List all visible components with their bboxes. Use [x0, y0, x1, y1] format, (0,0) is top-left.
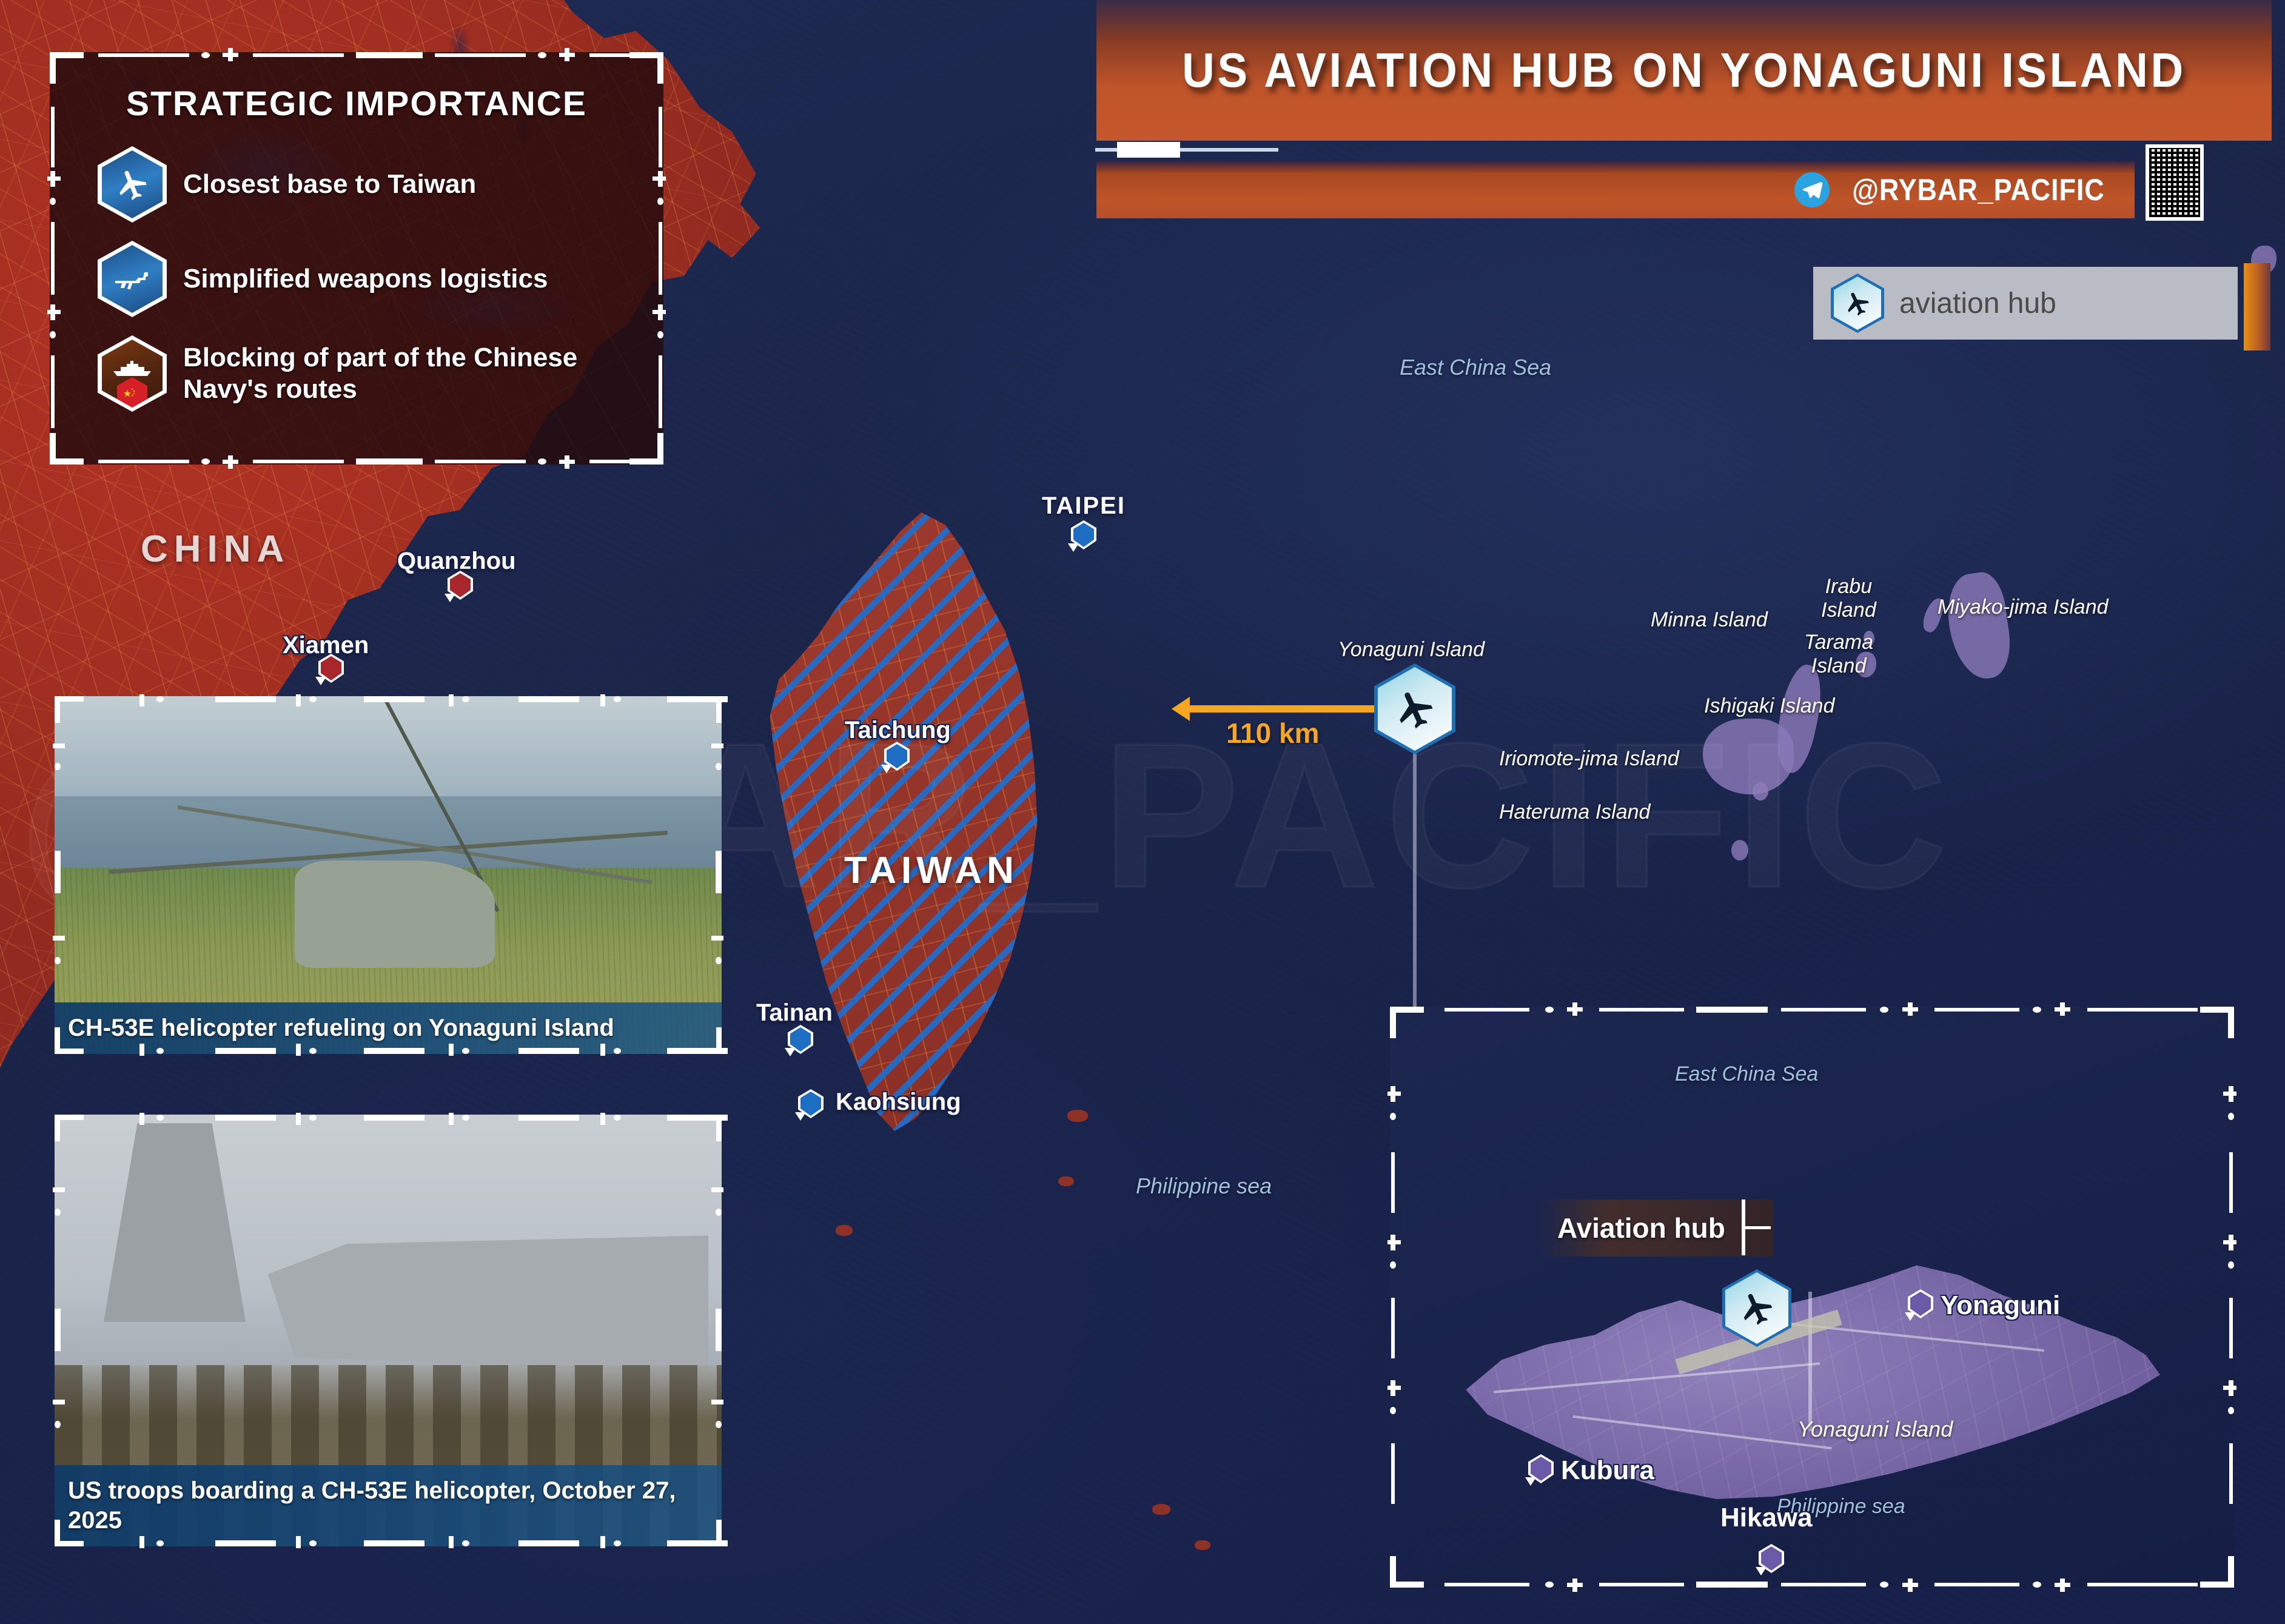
island-label-miyako: Miyako-jima Island: [1938, 596, 2109, 619]
country-label-china: CHINA: [141, 528, 290, 571]
city-label-tainan: Tainan: [756, 999, 833, 1027]
inset-island-label: Yonaguni Island: [1797, 1417, 1953, 1442]
page-title: US AVIATION HUB ON YONAGUNI ISLAND: [1125, 0, 2243, 141]
title-banner: US AVIATION HUB ON YONAGUNI ISLAND @RYBA…: [1083, 0, 2285, 226]
island-shape-hateruma: [1731, 840, 1748, 861]
island-label-irabu: IrabuIsland: [1821, 575, 1876, 622]
city-label-kaohsiung: Kaohsiung: [836, 1089, 961, 1116]
panel-item-closest-base: Closest base to Taiwan: [50, 150, 663, 218]
taiwan-islet: [836, 1225, 853, 1236]
telegram-bar: @RYBAR_PACIFIC: [1096, 161, 2135, 218]
panel-item-weapons-logistics: Simplified weapons logistics: [50, 245, 663, 313]
distance-arrow-left: [1172, 697, 1190, 721]
inset-sea-label-east-china-sea: East China Sea: [1675, 1062, 1818, 1086]
inset-connector-line: [1413, 752, 1417, 1007]
taiwan-islet: [1067, 1110, 1088, 1122]
panel-item-label: Simplified weapons logistics: [183, 263, 548, 295]
country-label-taiwan: TAIWAN: [844, 849, 1019, 892]
distance-line: [1189, 705, 1389, 713]
title-rule-marker: [1117, 142, 1180, 158]
island-label-iriomote: Iriomote-jima Island: [1499, 747, 1679, 771]
taiwan-islet: [1058, 1176, 1074, 1186]
telegram-row[interactable]: @RYBAR_PACIFIC: [1794, 161, 2130, 218]
callout-leader-horizontal: [1742, 1226, 1771, 1229]
city-label-xiamen: Xiamen: [283, 632, 369, 659]
legend: aviation hub: [1813, 267, 2238, 340]
telegram-handle[interactable]: @RYBAR_PACIFIC: [1852, 172, 2105, 207]
panel-item-naval-blocking: Blocking of part of the Chinese Navy's r…: [50, 340, 663, 408]
china-flag-icon: [117, 377, 147, 411]
qr-code-icon[interactable]: [2146, 144, 2204, 221]
taiwan-islet: [1195, 1540, 1210, 1550]
aviation-hub-marker[interactable]: [1378, 667, 1452, 751]
inset-city-label-hikawa: Hikawa: [1720, 1503, 1813, 1533]
island-label-hateruma: Hateruma Island: [1499, 800, 1650, 824]
inset-aviation-hub-marker[interactable]: [1725, 1272, 1788, 1344]
island-label-minna: Minna Island: [1651, 608, 1768, 632]
island-shape-small: [1753, 782, 1768, 800]
island-label-yonaguni: Yonaguni Island: [1338, 638, 1485, 662]
strategic-importance-panel: STRATEGIC IMPORTANCE Closest base to Tai…: [50, 52, 663, 465]
inset-callout: Aviation hub: [1542, 1200, 1773, 1257]
distance-label: 110 km: [1226, 717, 1319, 750]
panel-item-label: Closest base to Taiwan: [183, 169, 476, 200]
legend-item-label: aviation hub: [1899, 287, 2056, 320]
panel-title: STRATEGIC IMPORTANCE: [50, 52, 663, 124]
right-edge-tab: [2244, 263, 2270, 351]
island-label-tarama: TaramaIsland: [1804, 631, 1873, 678]
sea-label-east-china-sea: East China Sea: [1400, 355, 1551, 380]
inset-map-yonaguni: East China Sea Philippine sea Aviation h…: [1390, 1007, 2234, 1588]
panel-item-label: Blocking of part of the Chinese Navy's r…: [183, 342, 608, 405]
city-label-quanzhou: Quanzhou: [397, 548, 516, 575]
city-label-taipei: TAIPEI: [1042, 492, 1126, 520]
taiwan-islet: [1152, 1504, 1170, 1515]
infographic-map: @RYBAR_PACIFIC US AVIATION HUB ON YONAGU…: [0, 0, 2285, 1624]
island-label-irabu-text: IrabuIsland: [1821, 575, 1876, 622]
sea-label-philippine-sea: Philippine sea: [1136, 1173, 1272, 1199]
photo-caption: CH-53E helicopter refueling on Yonaguni …: [55, 1002, 722, 1054]
inset-city-label-yonaguni: Yonaguni: [1941, 1290, 2060, 1321]
photo-helicopter-refueling: CH-53E helicopter refueling on Yonaguni …: [55, 696, 722, 1054]
inset-city-label-kubura: Kubura: [1561, 1455, 1654, 1486]
city-label-taichung: Taichung: [845, 717, 951, 744]
photo-caption: US troops boarding a CH-53E helicopter, …: [55, 1465, 722, 1546]
photo-troops-boarding: US troops boarding a CH-53E helicopter, …: [55, 1115, 722, 1546]
telegram-icon: [1794, 172, 1830, 207]
island-label-ishigaki: Ishigaki Island: [1704, 694, 1834, 718]
